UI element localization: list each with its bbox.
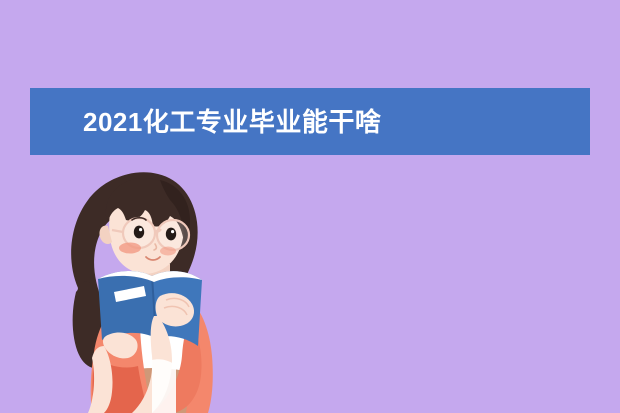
eye-left	[134, 226, 144, 239]
page-title: 2021化工专业毕业能干啥	[83, 109, 381, 135]
woman-reading-book-illustration	[40, 160, 240, 413]
blush-left	[119, 243, 141, 254]
inner-top-fold-shape	[152, 359, 176, 413]
blush-right	[160, 247, 176, 256]
eye-right	[166, 228, 176, 241]
article-cover-card: 2021化工专业毕业能干啥	[0, 0, 620, 413]
title-banner: 2021化工专业毕业能干啥	[30, 88, 590, 155]
